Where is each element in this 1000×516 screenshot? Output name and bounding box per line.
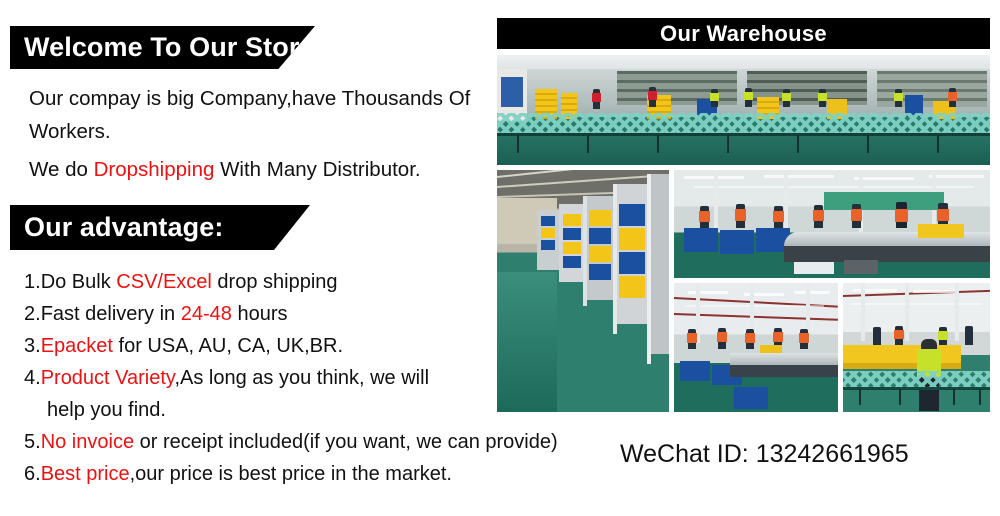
advantage-item-1-post: drop shipping — [212, 271, 338, 293]
warehouse-conveyor-sorting-line-photo — [674, 170, 990, 278]
welcome-banner: Welcome To Our Store — [10, 26, 315, 69]
warehouse-banner-label: Our Warehouse — [660, 21, 827, 47]
advantage-item-4-highlight: Product Variety — [41, 367, 175, 389]
advantage-item-1-highlight: CSV/Excel — [116, 271, 212, 293]
advantage-item-3-highlight: Epacket — [41, 335, 113, 357]
warehouse-banner: Our Warehouse — [497, 18, 990, 49]
warehouse-photo-collage — [497, 55, 990, 412]
right-media-column: Our Warehouse — [497, 0, 1000, 516]
advantage-item-2-number: 2. — [24, 303, 41, 325]
advantage-item-5-number: 5. — [24, 431, 41, 453]
warehouse-assembly-floor-panorama-photo — [497, 55, 990, 165]
advantage-item-1-number: 1. — [24, 271, 41, 293]
advantage-item-2-post: hours — [232, 303, 288, 325]
advantage-item-6-post: ,our price is best price in the market. — [130, 463, 452, 485]
advantage-item-6-highlight: Best price — [41, 463, 130, 485]
advantage-item-6-number: 6. — [24, 463, 41, 485]
advantage-item-5-highlight: No invoice — [41, 431, 134, 453]
warehouse-packing-stations-photo — [674, 283, 838, 412]
intro-line-2-pre: We do — [29, 158, 94, 181]
left-content-column: Welcome To Our Store Our compay is big C… — [0, 0, 497, 516]
intro-line-2-post: With Many Distributor. — [214, 158, 420, 181]
intro-paragraphs: Our compay is big Company,have Thousands… — [29, 82, 494, 191]
advantage-item-3-number: 3. — [24, 335, 41, 357]
welcome-banner-label: Welcome To Our Store — [24, 32, 315, 63]
intro-line-2: We do Dropshipping With Many Distributor… — [29, 153, 494, 186]
banner-page: Welcome To Our Store Our compay is big C… — [0, 0, 1000, 516]
advantage-item-2-highlight: 24-48 — [181, 303, 232, 325]
advantage-item-3-post: for USA, AU, CA, UK,BR. — [113, 335, 343, 357]
advantage-item-2-pre: Fast delivery in — [41, 303, 181, 325]
intro-line-2-highlight: Dropshipping — [94, 158, 215, 181]
advantage-banner: Our advantage: — [10, 205, 310, 250]
warehouse-storage-racks-aisle-photo — [497, 170, 669, 412]
advantage-banner-label: Our advantage: — [24, 212, 223, 243]
wechat-id-label: WeChat ID: 13242661965 — [620, 440, 909, 469]
advantage-item-4-post: ,As long as you think, we will — [174, 367, 429, 389]
warehouse-worker-yellow-tables-photo — [843, 283, 990, 412]
advantage-item-1-pre: Do Bulk — [41, 271, 117, 293]
intro-line-1-text: Our compay is big Company,have Thousands… — [29, 87, 470, 143]
intro-line-1: Our compay is big Company,have Thousands… — [29, 82, 494, 148]
advantage-item-4-number: 4. — [24, 367, 41, 389]
advantage-item-5-post: or receipt included(if you want, we can … — [134, 431, 558, 453]
